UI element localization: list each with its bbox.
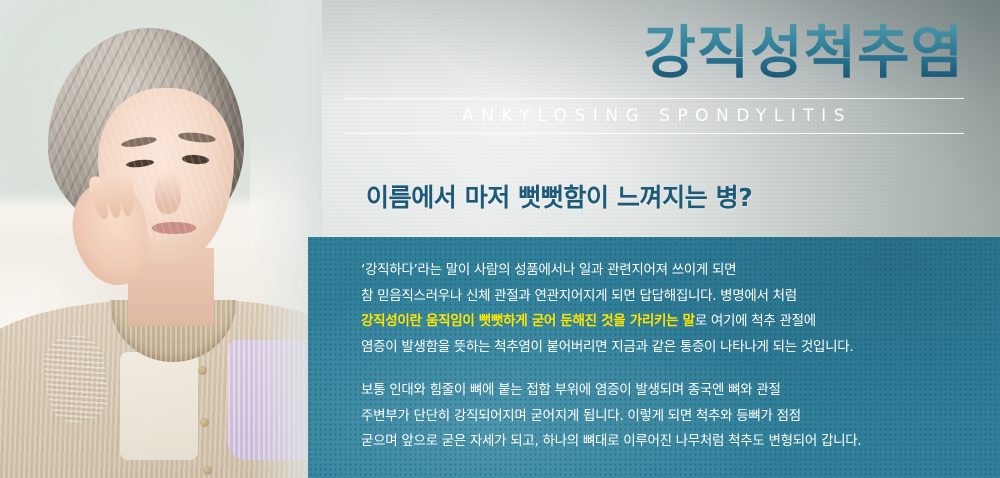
paragraph-2: 보통 인대와 힘줄이 뼈에 붙는 접합 부위에 염증이 발생되며 종국엔 뼈와 … <box>361 378 1000 455</box>
paragraph-2-line-2: 주변부가 단단히 강직되어지며 굳어지게 됩니다. 이렇게 되면 척추와 등뼈가… <box>361 408 801 424</box>
description-panel: ‘강직하다’라는 말이 사람의 성품에서나 일과 관련지어져 쓰이게 되면 참 … <box>308 237 1000 478</box>
english-title-rule: ANKYLOSING SPONDYLITIS <box>344 98 964 134</box>
photo-cardigan-button <box>200 418 209 427</box>
english-subtitle: ANKYLOSING SPONDYLITIS <box>344 106 964 134</box>
ankylosing-spondylitis-banner: 강직성척추염 ANKYLOSING SPONDYLITIS 이름에서 마저 뻣뻣… <box>0 0 1000 478</box>
photo-cardigan-cream-panel <box>120 352 198 460</box>
patient-photo <box>0 0 322 478</box>
title-block: 강직성척추염 ANKYLOSING SPONDYLITIS <box>344 22 964 134</box>
paragraph-2-line-3: 굳으며 앞으로 굳은 자세가 되고, 하나의 뼈대로 이루어진 나무처럼 척추도… <box>361 433 861 449</box>
paragraph-2-line-1: 보통 인대와 힘줄이 뼈에 붙는 접합 부위에 염증이 발생되며 종국엔 뼈와 … <box>361 382 781 398</box>
page-title: 강직성척추염 <box>344 22 964 86</box>
paragraph-1-line-3-rest: 로 여기에 척추 관절에 <box>695 313 816 329</box>
photo-cardigan-button <box>198 366 207 375</box>
paragraph-1-line-1: ‘강직하다’라는 말이 사람의 성품에서나 일과 관련지어져 쓰이게 되면 <box>361 262 736 278</box>
panel-content: ‘강직하다’라는 말이 사람의 성품에서나 일과 관련지어져 쓰이게 되면 참 … <box>308 237 1000 455</box>
question-headline: 이름에서 마저 뻣뻣함이 느껴지는 병? <box>366 178 752 214</box>
paragraph-1-line-3-highlight: 강직성이란 움직임이 뻣뻣하게 굳어 둔해진 것을 가리키는 말 <box>361 313 695 329</box>
paragraph-1-line-2: 참 믿음직스러우나 신체 관절과 연관지어지게 되면 답답해집니다. 병명에서 … <box>361 288 797 304</box>
paragraph-1: ‘강직하다’라는 말이 사람의 성품에서나 일과 관련지어져 쓰이게 되면 참 … <box>361 258 1000 360</box>
photo-cardigan-button <box>203 466 212 475</box>
paragraph-1-line-4: 염증이 발생함을 뜻하는 척추염이 붙어버리면 지금과 같은 통증이 나타나게 … <box>361 339 853 355</box>
